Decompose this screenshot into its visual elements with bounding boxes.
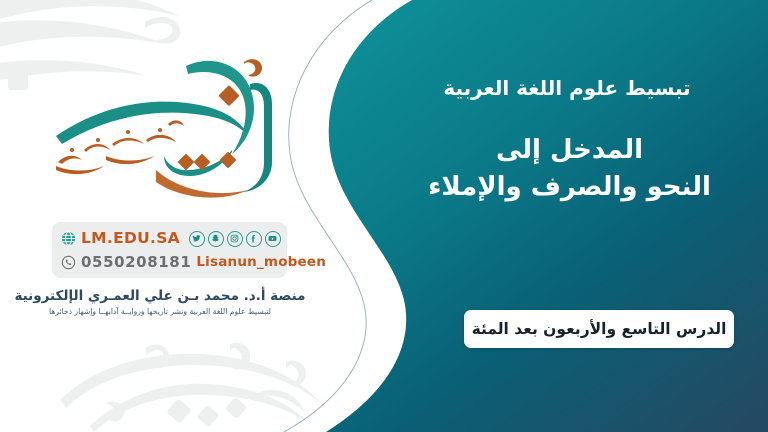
logo — [36, 44, 306, 212]
whatsapp-icon — [61, 255, 76, 270]
contact-card: LM.EDU.SA — [52, 222, 287, 278]
phone-label: 0550208181 — [81, 255, 191, 270]
title-line-1: المدخل إلى — [397, 132, 742, 169]
slide-canvas: LM.EDU.SA — [0, 0, 768, 432]
contact-phone-row[interactable]: 0550208181 Lisanun_mobeen — [61, 252, 278, 274]
youtube-icon[interactable] — [265, 231, 281, 247]
lesson-badge: الدرس التاسع والأربعون بعد المئة — [464, 310, 734, 348]
instagram-icon[interactable] — [227, 231, 243, 247]
panel-header: تبسيط علوم اللغة العربية — [402, 76, 732, 100]
contact-website-row[interactable]: LM.EDU.SA — [61, 228, 278, 250]
page-title: المدخل إلى النحو والصرف والإملاء — [397, 132, 742, 206]
globe-icon — [61, 231, 76, 246]
platform-tagline: لتبسيط علوم اللغة العربية ونشر تاريخها و… — [0, 307, 320, 316]
title-line-2: النحو والصرف والإملاء — [397, 169, 742, 206]
website-label: LM.EDU.SA — [81, 231, 180, 247]
snapchat-icon[interactable] — [208, 231, 224, 247]
facebook-icon[interactable] — [246, 231, 262, 247]
handle-label: Lisanun_mobeen — [196, 256, 326, 270]
social-icons — [189, 231, 281, 247]
platform-name: منصة أ.د. محمد بـن علي العمـري الإلكترون… — [0, 288, 320, 304]
twitter-icon[interactable] — [189, 231, 205, 247]
